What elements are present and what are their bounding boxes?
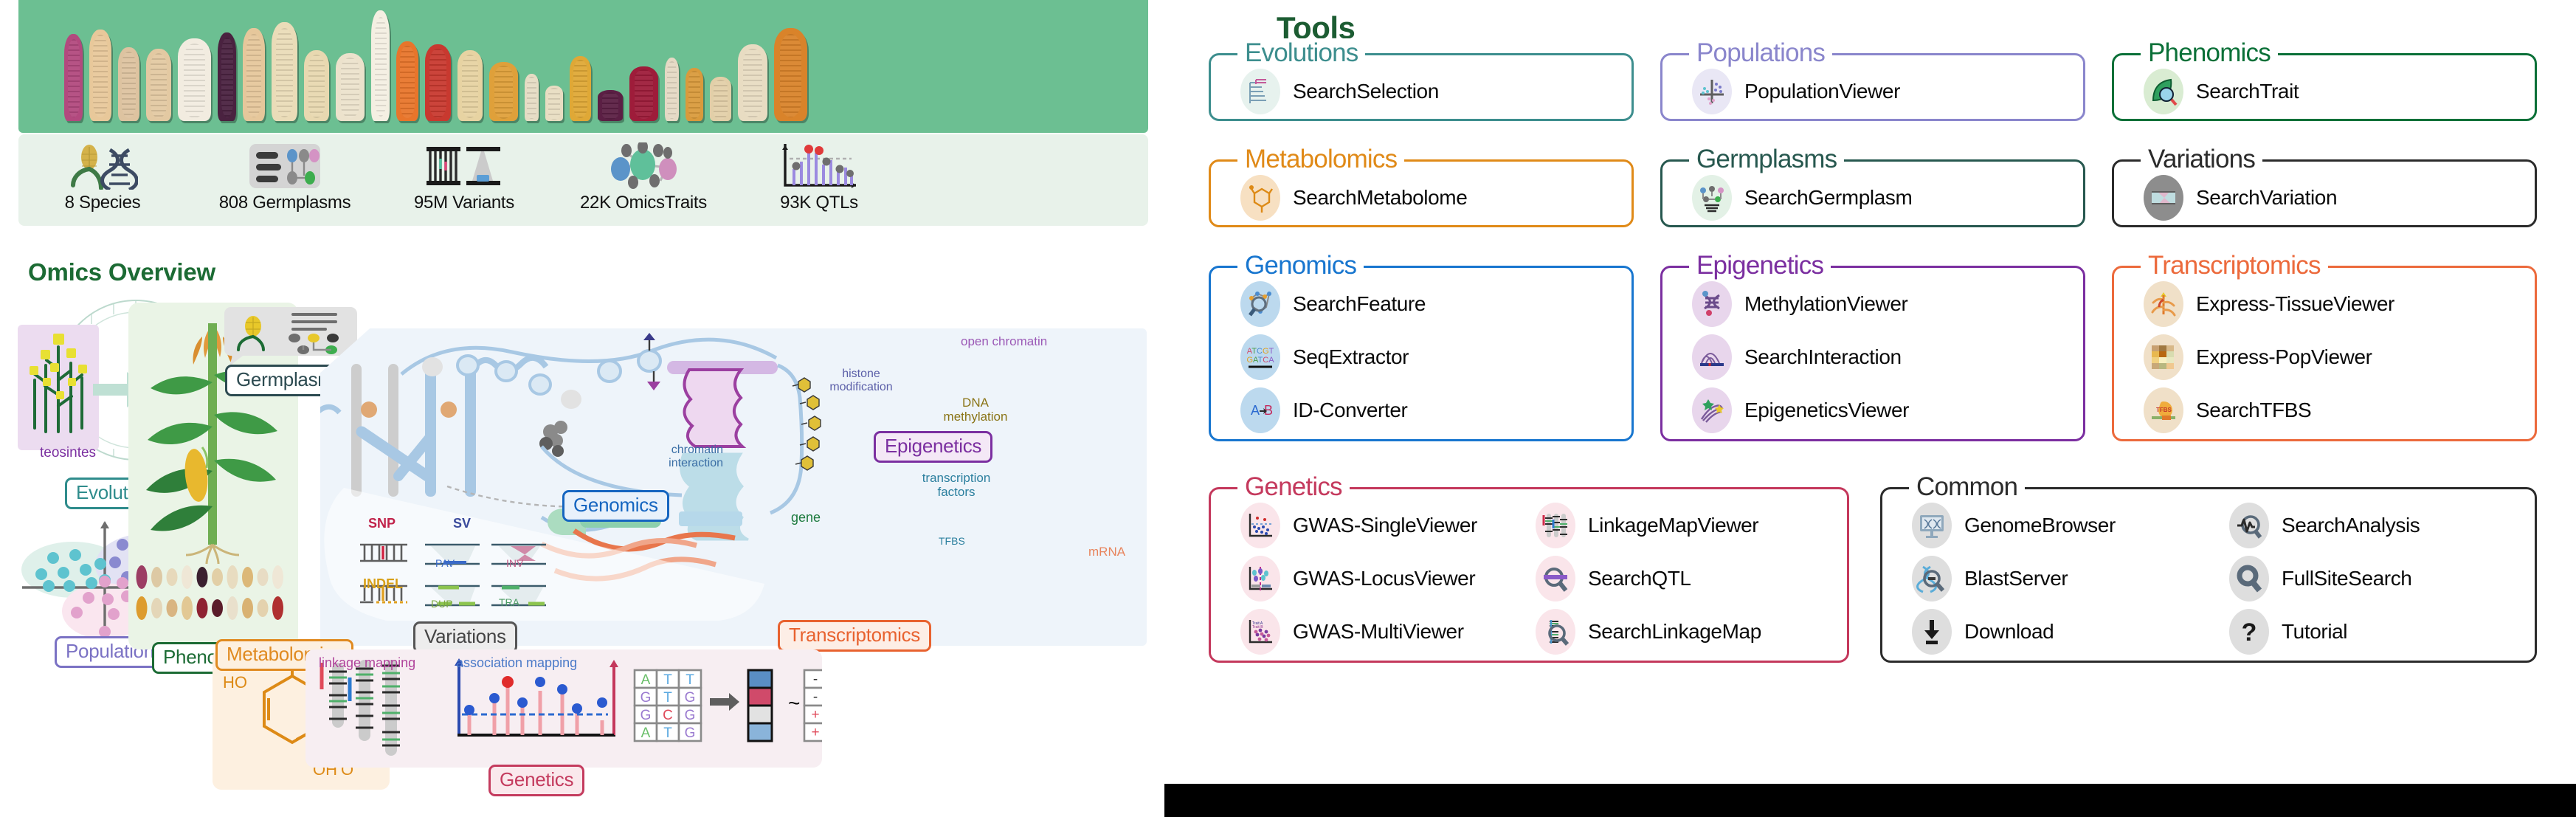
genome-browser-icon — [1912, 503, 1952, 548]
tool-item-label: SearchAnalysis — [2282, 514, 2420, 537]
phenomics-cob — [167, 599, 178, 617]
label-association-mapping: association mapping — [456, 655, 577, 671]
tag-transcriptomics[interactable]: Transcriptomics — [778, 620, 931, 652]
tool-item-label: GWAS-MultiViewer — [1293, 620, 1464, 644]
tool-item-express-popviewer[interactable]: Express-PopViewer — [2144, 334, 2372, 380]
tool-item-label: Express-TissueViewer — [2196, 292, 2394, 316]
tool-group-legend-germplasms: Germplasms — [1689, 145, 1844, 174]
label-teosintes: teosintes — [40, 445, 96, 461]
tag-epigenetics[interactable]: Epigenetics — [874, 431, 992, 463]
page-title: Omics Overview — [28, 258, 215, 286]
tool-item-searchinteraction[interactable]: SearchInteraction — [1692, 334, 1902, 380]
maize-cob — [64, 34, 83, 121]
label-linkage-mapping: linkage mapping — [319, 655, 415, 671]
tool-item-gwas-locusviewer[interactable]: GWAS-LocusViewer — [1240, 556, 1475, 601]
variants-gel-icon — [376, 142, 553, 190]
svg-text:?: ? — [2242, 618, 2257, 647]
tool-item-label: Express-PopViewer — [2196, 345, 2372, 369]
tool-item-label: SearchLinkageMap — [1588, 620, 1761, 644]
tool-item-label: FullSiteSearch — [2282, 567, 2411, 590]
linkage-map-icon — [1536, 503, 1575, 548]
tool-item-seqextractor[interactable]: ATCGTGATCASeqExtractor — [1240, 334, 1409, 380]
label-histone-modification: histonemodification — [821, 368, 902, 394]
tool-item-genomebrowser[interactable]: GenomeBrowser — [1912, 503, 2116, 548]
tool-item-label: SearchSelection — [1293, 80, 1439, 103]
search-icon — [2229, 556, 2269, 601]
download-icon — [1912, 609, 1952, 655]
tool-group-legend-evolutions: Evolutions — [1237, 38, 1365, 68]
tool-item-label: GWAS-SingleViewer — [1293, 514, 1477, 537]
phenomics-cob — [272, 596, 283, 620]
maize-cob — [686, 68, 703, 121]
tool-group-legend-epigenetics: Epigenetics — [1689, 251, 1831, 280]
tool-item-label: ID-Converter — [1293, 399, 1407, 422]
svg-text:~: ~ — [788, 692, 800, 714]
svg-text:T: T — [686, 672, 694, 688]
question-mark-icon: ? — [2229, 609, 2269, 655]
stat-omicstraits[interactable]: 22K OmicsTraits — [555, 142, 732, 213]
label-inv: INV — [506, 557, 523, 569]
feature-magnifier-icon — [1240, 281, 1280, 327]
svg-text:G: G — [640, 708, 652, 723]
svg-text:G: G — [685, 708, 696, 723]
tool-group-epigenetics: EpigeneticsMethylationViewerSearchIntera… — [1660, 266, 2085, 441]
maize-cob — [243, 28, 265, 121]
stat-variants[interactable]: 95M Variants — [376, 142, 553, 213]
variations-graphic — [357, 531, 579, 620]
svg-text:G: G — [640, 690, 652, 706]
stat-label: 808 Germplasms — [196, 193, 373, 213]
tool-group-evolutions: EvolutionsSearchSelection — [1209, 53, 1634, 121]
maize-cob — [489, 62, 518, 121]
svg-text:T: T — [663, 672, 672, 688]
label-snp: SNP — [368, 516, 396, 531]
stat-label: 22K OmicsTraits — [555, 193, 732, 213]
interaction-arcs-icon — [1692, 334, 1732, 380]
phenomics-cob — [182, 596, 193, 620]
tool-item-label: SearchTrait — [2196, 80, 2299, 103]
tool-group-genetics: GeneticsGWAS-SingleViewerGWAS-LocusViewe… — [1209, 487, 1849, 663]
tool-item-express-tissueviewer[interactable]: Express-TissueViewer — [2144, 281, 2394, 327]
phenomics-cob — [197, 567, 208, 587]
maize-cob — [570, 56, 591, 121]
omicstraits-network-icon — [555, 142, 732, 190]
tool-group-legend-phenomics: Phenomics — [2141, 38, 2278, 68]
phenomics-cob — [242, 567, 253, 587]
tool-group-metabolomics: MetabolomicsSearchMetabolome — [1209, 159, 1634, 227]
maize-cob — [371, 10, 390, 121]
svg-text:A: A — [641, 725, 651, 741]
tool-item-gwas-singleviewer[interactable]: GWAS-SingleViewer — [1240, 503, 1477, 548]
svg-text:ATCGT: ATCGT — [1247, 347, 1274, 356]
label-dna-methylation: DNAmethylation — [942, 396, 1009, 424]
tool-item-label: SearchMetabolome — [1293, 186, 1467, 210]
tool-item-label: SearchGermplasm — [1744, 186, 1912, 210]
gwas-multi-icon: Trait ATrait B — [1240, 609, 1280, 655]
tool-item-searchfeature[interactable]: SearchFeature — [1240, 281, 1426, 327]
maize-cob — [178, 38, 211, 121]
tool-item-label: Tutorial — [2282, 620, 2347, 644]
tool-item-download[interactable]: Download — [1912, 609, 2054, 655]
page-root: 8 Species — [0, 0, 2576, 817]
stat-qtls[interactable]: 93K QTLs — [731, 142, 908, 213]
tag-genetics[interactable]: Genetics — [488, 765, 584, 796]
germplasm-table-icon — [196, 142, 373, 190]
tool-item-label: SearchInteraction — [1744, 345, 1902, 369]
tool-item-label: PopulationViewer — [1744, 80, 1900, 103]
tool-item-label: LinkageMapViewer — [1588, 514, 1758, 537]
tool-item-id-converter[interactable]: ABID-Converter — [1240, 387, 1407, 433]
tool-group-legend-populations: Populations — [1689, 38, 1832, 68]
stat-label: 8 Species — [14, 193, 191, 213]
tool-item-searchtrait[interactable]: SearchTrait — [2144, 69, 2299, 114]
svg-text:G: G — [685, 725, 696, 741]
phenomics-cob — [227, 596, 238, 620]
phenomics-cob — [182, 565, 193, 589]
tool-item-label: EpigeneticsViewer — [1744, 399, 1909, 422]
tool-group-variations: VariationsSearchVariation — [2112, 159, 2537, 227]
tool-group-legend-genomics: Genomics — [1237, 251, 1364, 280]
tool-item-searchanalysis[interactable]: SearchAnalysis — [2229, 503, 2420, 548]
left-panel: 8 Species — [0, 0, 1164, 817]
label-pav: PAV — [435, 557, 455, 569]
tool-group-phenomics: PhenomicsSearchTrait — [2112, 53, 2537, 121]
label-open-chromatin: open chromatin — [961, 334, 1047, 349]
svg-text:A: A — [641, 672, 651, 688]
tool-item-label: Download — [1964, 620, 2054, 644]
label-transcription-factors: transcriptionfactors — [916, 471, 997, 499]
label-sv: SV — [453, 516, 471, 531]
phenomics-cob — [212, 568, 223, 586]
tool-item-label: GenomeBrowser — [1964, 514, 2116, 537]
qtl-magnifier-icon — [1536, 556, 1575, 601]
tissue-plant-icon — [2144, 281, 2183, 327]
maize-cob — [457, 50, 483, 121]
phenomics-cob — [197, 598, 208, 618]
tool-item-tutorial[interactable]: ?Tutorial — [2229, 609, 2347, 655]
germplasm-node-icon — [1692, 175, 1732, 221]
svg-text:C: C — [663, 708, 673, 723]
svg-text:G: G — [685, 690, 696, 706]
maize-cob — [598, 90, 623, 121]
bottom-black-bar — [1164, 784, 2576, 817]
tools-panel: Tools EvolutionsSearchSelectionPopulatio… — [1164, 0, 2576, 817]
label-indel: INDEL — [363, 576, 403, 592]
tool-group-germplasms: GermplasmsSearchGermplasm — [1660, 159, 2085, 227]
tool-group-legend-transcriptomics: Transcriptomics — [2141, 251, 2328, 280]
tool-group-legend-common: Common — [1909, 472, 2025, 502]
id-convert-icon: AB — [1240, 387, 1280, 433]
expression-heatmap-icon — [2144, 334, 2183, 380]
maize-cob — [118, 47, 139, 121]
stat-species[interactable]: 8 Species — [14, 142, 191, 213]
phenomics-cob — [258, 568, 269, 586]
tool-item-label: SearchFeature — [1293, 292, 1426, 316]
tool-item-searchqtl[interactable]: SearchQTL — [1536, 556, 1691, 601]
linkage-magnifier-icon — [1536, 609, 1575, 655]
maize-cob — [89, 30, 111, 121]
maize-cob — [146, 49, 171, 121]
tool-group-legend-metabolomics: Metabolomics — [1237, 145, 1404, 174]
tool-item-label: BlastServer — [1964, 567, 2068, 590]
stat-germplasms[interactable]: 808 Germplasms — [196, 142, 373, 213]
phenomics-cob — [167, 568, 178, 586]
tfbs-icon: TFBS — [2144, 387, 2183, 433]
tag-variations[interactable]: Variations — [413, 621, 517, 653]
label-chromatin-interaction: chromatininteraction — [635, 444, 723, 470]
svg-text:-: - — [813, 689, 818, 705]
stat-label: 95M Variants — [376, 193, 553, 213]
svg-text:T: T — [663, 725, 672, 741]
tool-item-label: SearchVariation — [2196, 186, 2337, 210]
corn-dna-icon — [14, 142, 191, 190]
tool-item-blastserver[interactable]: BlastServer — [1912, 556, 2068, 601]
stat-label: 93K QTLs — [731, 193, 908, 213]
tool-group-legend-genetics: Genetics — [1237, 472, 1350, 502]
maize-cob — [665, 58, 679, 121]
leaf-magnifier-icon — [2144, 69, 2183, 114]
methylation-dna-icon — [1692, 281, 1732, 327]
svg-text:TFBS: TFBS — [2156, 407, 2172, 413]
tool-item-label: GWAS-LocusViewer — [1293, 567, 1475, 590]
maize-cob — [218, 32, 236, 121]
maize-cob — [336, 53, 365, 121]
tool-item-searchmetabolome[interactable]: SearchMetabolome — [1240, 175, 1467, 221]
pca-scatter-icon — [1692, 69, 1732, 114]
gwas-single-icon — [1240, 503, 1280, 548]
phylo-tree-icon — [1240, 69, 1280, 114]
phenomics-cob — [272, 565, 283, 589]
label-tfbs: TFBS — [939, 535, 965, 547]
svg-text:A: A — [1251, 403, 1260, 418]
svg-text:Trait B: Trait B — [1252, 625, 1263, 630]
stats-bar: 8 Species — [18, 134, 1148, 226]
phenomics-cob — [137, 596, 148, 620]
phenomics-cob — [258, 599, 269, 617]
label-mrna: mRNA — [1088, 545, 1125, 559]
svg-text:HO: HO — [223, 673, 247, 692]
tag-genomics[interactable]: Genomics — [562, 490, 669, 522]
tool-group-genomics: GenomicsSearchFeatureATCGTGATCASeqExtrac… — [1209, 266, 1634, 441]
tool-item-gwas-multiviewer[interactable]: Trait ATrait BGWAS-MultiViewer — [1240, 609, 1464, 655]
variation-block-icon — [2144, 175, 2183, 221]
tool-item-fullsitesearch[interactable]: FullSiteSearch — [2229, 556, 2411, 601]
tool-group-legend-variations: Variations — [2141, 145, 2262, 174]
phenomics-cob — [151, 567, 162, 587]
maize-cob — [774, 28, 807, 121]
tool-item-methylationviewer[interactable]: MethylationViewer — [1692, 281, 1907, 327]
tool-group-populations: PopulationsPopulationViewer — [1660, 53, 2085, 121]
tool-item-searchselection[interactable]: SearchSelection — [1240, 69, 1439, 114]
label-dup: DUP — [431, 598, 453, 610]
phenomics-cob — [212, 599, 223, 617]
phenomics-cob — [227, 565, 238, 589]
tool-group-transcriptomics: TranscriptomicsExpress-TissueViewerExpre… — [2112, 266, 2537, 441]
tool-item-searchvariation[interactable]: SearchVariation — [2144, 175, 2337, 221]
tool-group-common: CommonGenomeBrowserBlastServerDownloadSe… — [1880, 487, 2537, 663]
tool-item-searchtfbs[interactable]: TFBSSearchTFBS — [2144, 387, 2311, 433]
gwas-locus-icon — [1240, 556, 1280, 601]
tool-item-label: SeqExtractor — [1293, 345, 1409, 369]
tool-item-searchgermplasm[interactable]: SearchGermplasm — [1692, 175, 1912, 221]
label-gene: gene — [791, 510, 821, 525]
svg-text:T: T — [663, 690, 672, 706]
molecule-icon — [1240, 175, 1280, 221]
epigenetics-chromatin-icon — [1692, 387, 1732, 433]
phenomics-cob — [242, 598, 253, 618]
label-tra: TRA — [499, 596, 519, 608]
qtl-manhattan-icon — [731, 142, 908, 190]
maize-cob — [272, 22, 297, 121]
tool-item-label: SearchQTL — [1588, 567, 1691, 590]
maize-cob — [425, 44, 451, 121]
svg-text:-: - — [813, 672, 818, 687]
maize-cob — [525, 74, 539, 121]
blast-dna-icon — [1912, 556, 1952, 601]
tool-item-label: MethylationViewer — [1744, 292, 1907, 316]
maize-cob — [738, 44, 767, 121]
svg-text:GATCA: GATCA — [1246, 356, 1274, 365]
maize-cob-collection-banner — [18, 0, 1148, 133]
tool-item-populationviewer[interactable]: PopulationViewer — [1692, 69, 1900, 114]
phenomics-cob — [151, 598, 162, 618]
tool-item-epigeneticsviewer[interactable]: EpigeneticsViewer — [1692, 387, 1909, 433]
maize-cob — [304, 50, 329, 121]
analysis-wave-icon — [2229, 503, 2269, 548]
tool-item-linkagemapviewer[interactable]: LinkageMapViewer — [1536, 503, 1758, 548]
maize-cob — [629, 66, 658, 121]
phenomics-cob — [137, 565, 148, 589]
omics-overview-diagram: teosintes maize Evolutions — [10, 295, 1161, 812]
tool-item-searchlinkagemap[interactable]: SearchLinkageMap — [1536, 609, 1761, 655]
tool-item-label: SearchTFBS — [2196, 399, 2311, 422]
sequence-letters-icon: ATCGTGATCA — [1240, 334, 1280, 380]
maize-cob — [545, 86, 563, 121]
svg-text:+: + — [811, 725, 819, 740]
maize-cob — [396, 41, 418, 121]
svg-text:+: + — [811, 707, 819, 723]
maize-cob — [710, 77, 731, 121]
